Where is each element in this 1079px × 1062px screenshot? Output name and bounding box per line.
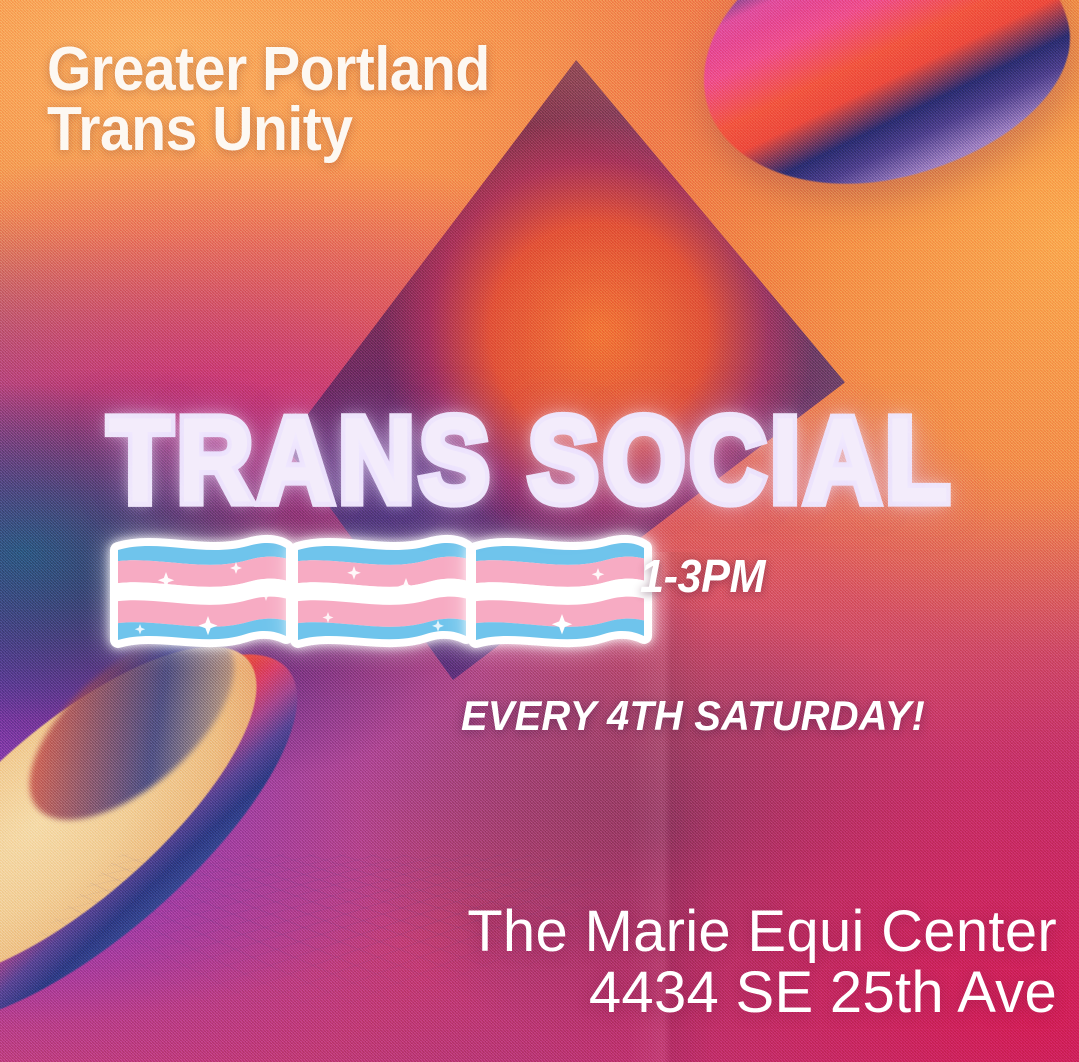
organization-title: Greater Portland Trans Unity bbox=[47, 40, 490, 160]
event-title: TRANS SOCIAL bbox=[108, 392, 954, 530]
event-cadence: EVERY 4TH SATURDAY! bbox=[461, 692, 925, 740]
venue-address: The Marie Equi Center 4434 SE 25th Ave bbox=[467, 901, 1057, 1024]
event-poster: Greater Portland Trans Unity TRANS SOCIA… bbox=[0, 0, 1079, 1062]
event-time: 1-3PM bbox=[640, 549, 765, 603]
text-layer: Greater Portland Trans Unity TRANS SOCIA… bbox=[0, 0, 1079, 1062]
